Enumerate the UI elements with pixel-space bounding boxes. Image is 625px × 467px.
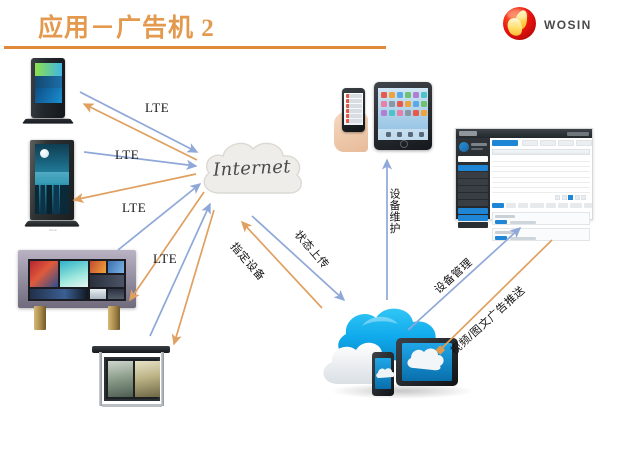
label-lte-1: LTE <box>145 100 169 116</box>
slide-canvas: 应用－广告机 2 WOSIN Wosin <box>0 0 625 467</box>
label-lte-2: LTE <box>115 147 139 163</box>
label-device-maintenance: 设备维护 <box>386 188 402 234</box>
label-lte-4: LTE <box>153 251 177 267</box>
connection-arrows <box>0 0 625 467</box>
label-lte-3: LTE <box>122 200 146 216</box>
